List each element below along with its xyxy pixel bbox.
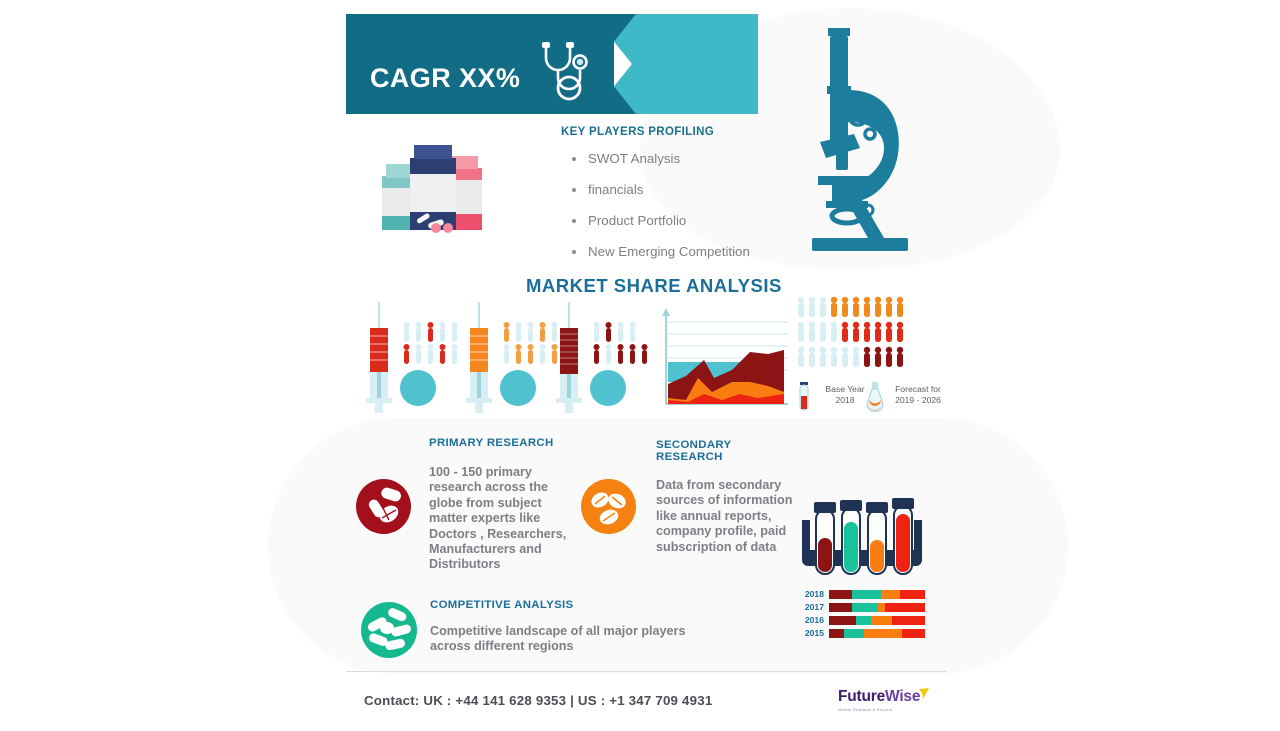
- competitive-analysis-block: COMPETITIVE ANALYSIS Competitive landsca…: [430, 599, 720, 655]
- bar-segment: [902, 629, 925, 638]
- contact-info: Contact: UK : +44 141 628 9353 | US : +1…: [364, 693, 712, 708]
- test-tube-icon: [796, 382, 812, 412]
- year-label: 2015: [800, 628, 824, 639]
- bar-segment: [852, 603, 877, 612]
- key-players-list: SWOT Analysis financials Product Portfol…: [561, 151, 801, 259]
- year-label: 2018: [800, 589, 824, 600]
- year-bar: [829, 603, 925, 612]
- microscope-icon: [806, 24, 918, 256]
- bar-segment: [871, 616, 892, 625]
- competitive-analysis-title: COMPETITIVE ANALYSIS: [430, 599, 720, 611]
- bar-segment: [856, 616, 871, 625]
- primary-research-title: PRIMARY RESEARCH: [429, 437, 581, 449]
- table-row: 2017: [800, 602, 925, 613]
- bar-segment: [900, 590, 925, 599]
- list-item: New Emerging Competition: [561, 244, 801, 259]
- list-item: SWOT Analysis: [561, 151, 801, 166]
- capsules-circle-icon: [361, 602, 417, 658]
- year-bar: [829, 590, 925, 599]
- list-item: financials: [561, 182, 801, 197]
- cagr-title: CAGR XX%: [370, 63, 520, 94]
- cagr-banner: CAGR XX%: [346, 14, 758, 114]
- primary-research-block: PRIMARY RESEARCH 100 - 150 primary resea…: [429, 437, 581, 573]
- year-bar: [829, 616, 925, 625]
- infographic-canvas: CAGR XX%: [0, 0, 1280, 731]
- table-row: 2016: [800, 615, 925, 626]
- legend-forecast-line2: 2019 - 2026: [884, 395, 952, 406]
- logo-tagline: Market Research & Reports: [838, 707, 934, 712]
- year-label: 2017: [800, 602, 824, 613]
- test-tube-rack-icon: [798, 498, 926, 580]
- year-label: 2016: [800, 615, 824, 626]
- bar-segment: [829, 590, 852, 599]
- logo-future-text: Future: [838, 688, 885, 705]
- tablet-pills-icon: [581, 479, 636, 534]
- pill-capsule-icon: [356, 479, 411, 534]
- bar-segment: [829, 616, 856, 625]
- bar-segment: [829, 629, 844, 638]
- market-share-title: MARKET SHARE ANALYSIS: [526, 275, 782, 297]
- list-item: Product Portfolio: [561, 213, 801, 228]
- bar-segment: [892, 616, 925, 625]
- footer-divider: [346, 671, 946, 672]
- secondary-research-title: SECONDARY RESEARCH: [656, 439, 801, 463]
- bar-segment: [877, 603, 885, 612]
- bar-segment: [829, 603, 852, 612]
- year-bar: [829, 629, 925, 638]
- bar-segment: [881, 590, 900, 599]
- secondary-research-block: SECONDARY RESEARCH Data from secondary s…: [656, 439, 801, 555]
- futurewise-logo: FutureWise Market Research & Reports: [838, 688, 934, 716]
- syringes-pictogram-group: [360, 300, 650, 415]
- key-players-title: KEY PLAYERS PROFILING: [561, 126, 801, 138]
- years-stacked-bar-chart: 2018 2017 2016: [800, 589, 925, 641]
- pill-bottles-icon: [372, 142, 496, 254]
- stethoscope-icon: [536, 40, 600, 102]
- market-share-legend: Base Year 2018 Forecast for 2019 - 2026: [796, 382, 946, 416]
- table-row: 2015: [800, 628, 925, 639]
- bar-segment: [885, 603, 925, 612]
- secondary-research-body: Data from secondary sources of informati…: [656, 478, 801, 555]
- table-row: 2018: [800, 589, 925, 600]
- bar-segment: [864, 629, 902, 638]
- flask-icon: [864, 382, 886, 412]
- area-chart: [652, 304, 792, 414]
- primary-research-body: 100 - 150 primary research across the gl…: [429, 465, 581, 573]
- key-players-block: KEY PLAYERS PROFILING SWOT Analysis fina…: [561, 126, 801, 275]
- logo-wise-text: Wise: [885, 688, 920, 705]
- logo-flag-icon: [919, 688, 929, 700]
- legend-forecast-line1: Forecast for: [884, 384, 952, 395]
- people-pictogram-chart: [796, 296, 914, 372]
- bar-segment: [852, 590, 881, 599]
- competitive-analysis-body: Competitive landscape of all major playe…: [430, 624, 720, 655]
- bar-segment: [844, 629, 863, 638]
